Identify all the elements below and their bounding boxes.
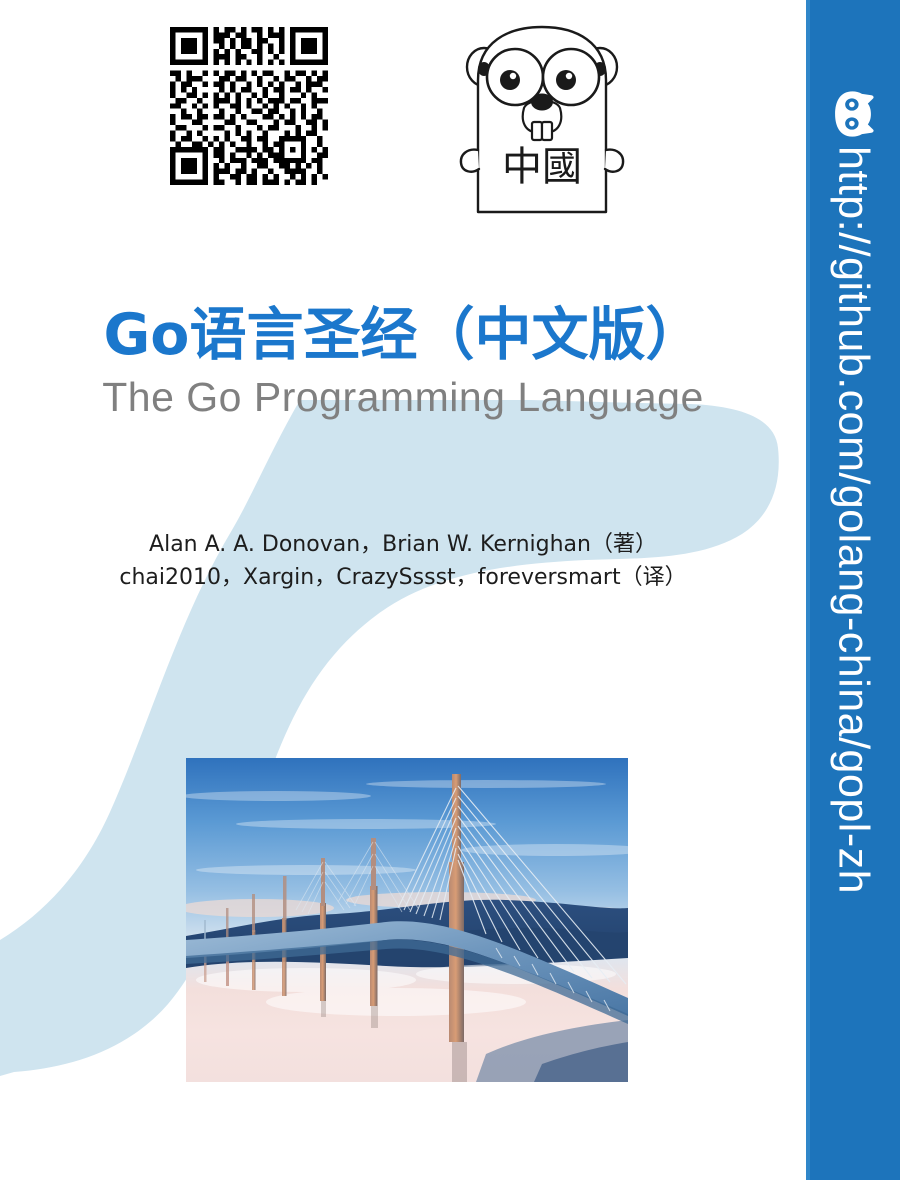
sidebar-edge-stripe [806, 0, 810, 1180]
gopher-belly-text: 中國 [502, 144, 582, 190]
github-sidebar: http://github.com/golang-china/gopl-zh [806, 0, 900, 1180]
qr-code [170, 27, 328, 185]
authors-line: Alan A. A. Donovan，Brian W. Kernighan（著） [0, 528, 806, 561]
title-block: Go语言圣经（中文版） The Go Programming Language [0, 305, 806, 421]
book-cover: 中國 Go语言圣经（中文版） The Go Programming Langua… [0, 0, 900, 1180]
millau-viaduct-illustration [186, 758, 628, 1082]
book-title-chinese: Go语言圣经（中文版） [0, 305, 806, 367]
repository-url[interactable]: http://github.com/golang-china/gopl-zh [829, 146, 878, 1146]
book-title-english: The Go Programming Language [0, 373, 806, 421]
bridge-photo [186, 758, 628, 1082]
octocat-icon[interactable] [825, 86, 881, 142]
author-block: Alan A. A. Donovan，Brian W. Kernighan（著）… [0, 528, 806, 595]
translators-line: chai2010，Xargin，CrazySssst，foreversmart（… [0, 561, 806, 594]
go-gopher-mascot-icon: 中國 [452, 22, 632, 217]
